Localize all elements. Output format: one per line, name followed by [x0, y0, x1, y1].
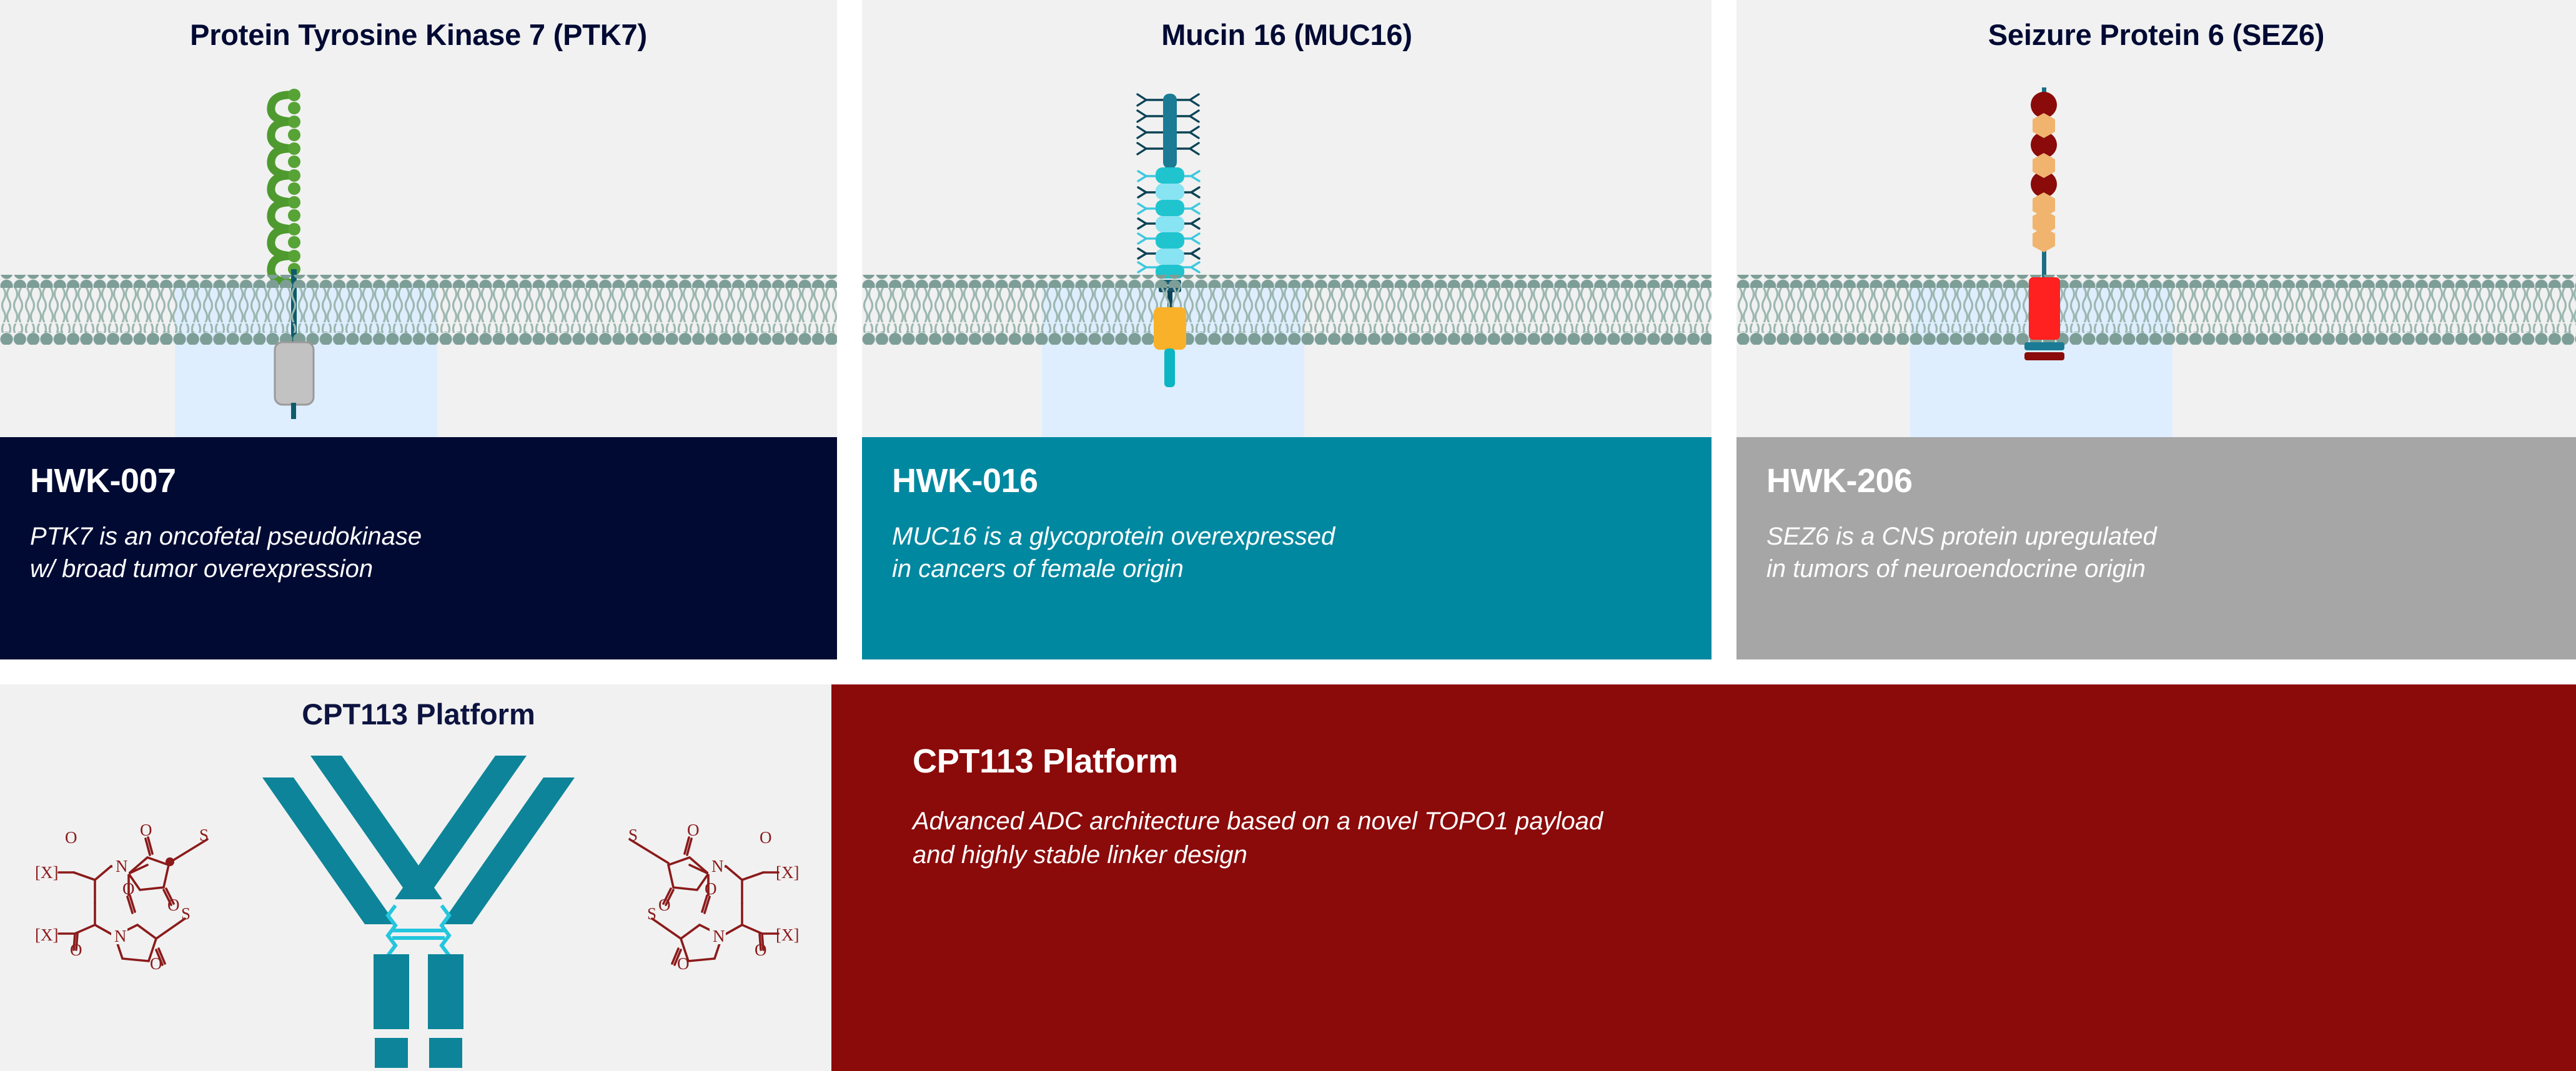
- oxygen-label: O: [150, 954, 162, 973]
- oxygen-label: O: [70, 940, 82, 959]
- antibody-fab-arms: [262, 756, 575, 924]
- sez6-cub-domains: [2031, 92, 2057, 197]
- oxygen-label: O: [658, 896, 671, 914]
- sulfur-label: S: [647, 904, 656, 923]
- target-desc-line1: SEZ6 is a CNS protein upregulated: [1766, 520, 2546, 553]
- oxygen-label: O: [755, 940, 767, 959]
- platform-row: CPT113 Platform: [0, 684, 2576, 1071]
- target-desc-line1: PTK7 is an oncofetal pseudokinase: [30, 520, 807, 553]
- target-desc-line2: in cancers of female origin: [892, 553, 1682, 586]
- muc16-sea-domain-beads: [1156, 167, 1184, 292]
- oxygen-label: O: [65, 828, 77, 847]
- oxygen-label: O: [687, 821, 700, 839]
- muc16-receptor-diagram: [862, 0, 1712, 437]
- target-panel-ptk7: Protein Tyrosine Kinase 7 (PTK7): [0, 0, 837, 659]
- target-code-label: HWK-016: [892, 463, 1682, 499]
- nitrogen-label: N: [114, 927, 127, 945]
- ptk7-kinase-domain: [275, 342, 314, 405]
- oxygen-label: O: [677, 954, 690, 973]
- muc16-cytoplasmic-tail: [1164, 348, 1175, 387]
- antibody-fc-region: [374, 954, 463, 1068]
- sez6-diagram-area: Seizure Protein 6 (SEZ6): [1736, 0, 2576, 437]
- ptk7-cytoplasmic-tail: [291, 403, 296, 419]
- lipid-bilayer: [862, 275, 1712, 345]
- platform-info-card[interactable]: CPT113 Platform Advanced ADC architectur…: [831, 684, 2576, 1071]
- sez6-receptor-diagram: [1736, 0, 2576, 437]
- payload-placeholder-label: [X]: [776, 863, 799, 882]
- target-card-ptk7[interactable]: HWK-007 PTK7 is an oncofetal pseudokinas…: [0, 437, 837, 659]
- sez6-transmembrane-domain: [2029, 277, 2060, 340]
- target-card-muc16[interactable]: HWK-016 MUC16 is a glycoprotein overexpr…: [862, 437, 1712, 659]
- platform-desc-line2: and highly stable linker design: [913, 838, 2576, 872]
- target-desc-line1: MUC16 is a glycoprotein overexpressed: [892, 520, 1682, 553]
- payload-placeholder-label: [X]: [35, 925, 58, 944]
- oxygen-label: O: [705, 879, 717, 898]
- platform-desc-line1: Advanced ADC architecture based on a nov…: [913, 804, 2576, 838]
- ptk7-diagram-area: Protein Tyrosine Kinase 7 (PTK7): [0, 0, 837, 437]
- conjugation-point-dot: [166, 857, 174, 866]
- nitrogen-label: N: [711, 857, 724, 876]
- slide-canvas: Protein Tyrosine Kinase 7 (PTK7): [0, 0, 2576, 1071]
- target-code-label: HWK-206: [1766, 463, 2546, 499]
- adc-diagram-area: CPT113 Platform: [0, 684, 837, 1071]
- muc16-diagram-area: Mucin 16 (MUC16): [862, 0, 1712, 437]
- nitrogen-label: N: [713, 927, 725, 945]
- oxygen-label: O: [167, 896, 180, 914]
- target-panel-sez6: Seizure Protein 6 (SEZ6): [1736, 0, 2576, 659]
- adc-antibody-diagram: N N O O O O O O S S [X] [X]: [0, 718, 837, 1068]
- nitrogen-label: N: [116, 857, 128, 876]
- lipid-bilayer: [0, 275, 837, 345]
- ptk7-helix-knobs: [288, 89, 300, 275]
- sez6-cytoplasmic-bar: [2024, 352, 2064, 360]
- platform-heading: CPT113 Platform: [913, 742, 2576, 781]
- sulfur-label: S: [199, 826, 209, 844]
- oxygen-label: O: [140, 821, 152, 839]
- payload-placeholder-label: [X]: [35, 863, 58, 882]
- target-desc-line2: in tumors of neuroendocrine origin: [1766, 553, 2546, 586]
- target-desc-line2: w/ broad tumor overexpression: [30, 553, 807, 586]
- oxygen-label: O: [760, 828, 772, 847]
- sulfur-label: S: [628, 826, 638, 844]
- oxygen-label: O: [122, 879, 135, 898]
- muc16-tandem-repeat-stem: [1163, 94, 1177, 169]
- payload-chem-atom-labels-left: N N O O O O O O S S [X] [X]: [35, 821, 209, 973]
- target-card-sez6[interactable]: HWK-206 SEZ6 is a CNS protein upregulate…: [1736, 437, 2576, 659]
- muc16-transmembrane-domain: [1154, 307, 1186, 350]
- target-panel-muc16: Mucin 16 (MUC16): [862, 0, 1712, 659]
- ptk7-receptor-diagram: [0, 0, 837, 437]
- lipid-bilayer: [1736, 275, 2576, 345]
- payload-chem-atom-labels-right: N N O O O O O O S S [X] [X]: [628, 821, 799, 973]
- sulfur-label: S: [181, 904, 191, 923]
- sez6-juxtamembrane-bar: [2024, 342, 2064, 350]
- payload-placeholder-label: [X]: [776, 925, 799, 944]
- target-code-label: HWK-007: [30, 463, 807, 499]
